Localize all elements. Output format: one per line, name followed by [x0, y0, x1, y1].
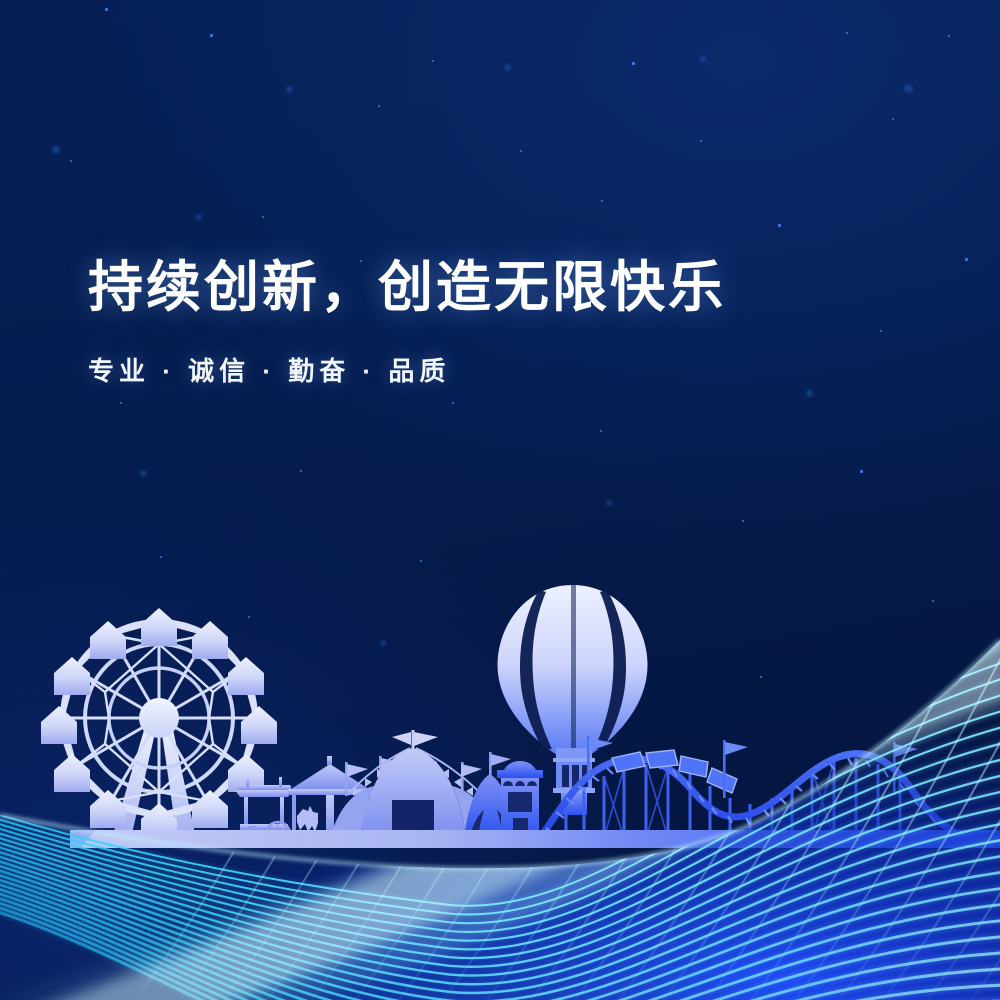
glowing-wave-mesh: [0, 0, 1000, 1000]
page-subtitle: 专业 · 诚信 · 勤奋 · 品质: [88, 351, 726, 388]
page-title: 持续创新，创造无限快乐: [88, 258, 726, 317]
banner-canvas: 持续创新，创造无限快乐专业 · 诚信 · 勤奋 · 品质: [0, 0, 1000, 1000]
hero-text-block: 持续创新，创造无限快乐专业 · 诚信 · 勤奋 · 品质: [88, 258, 726, 388]
